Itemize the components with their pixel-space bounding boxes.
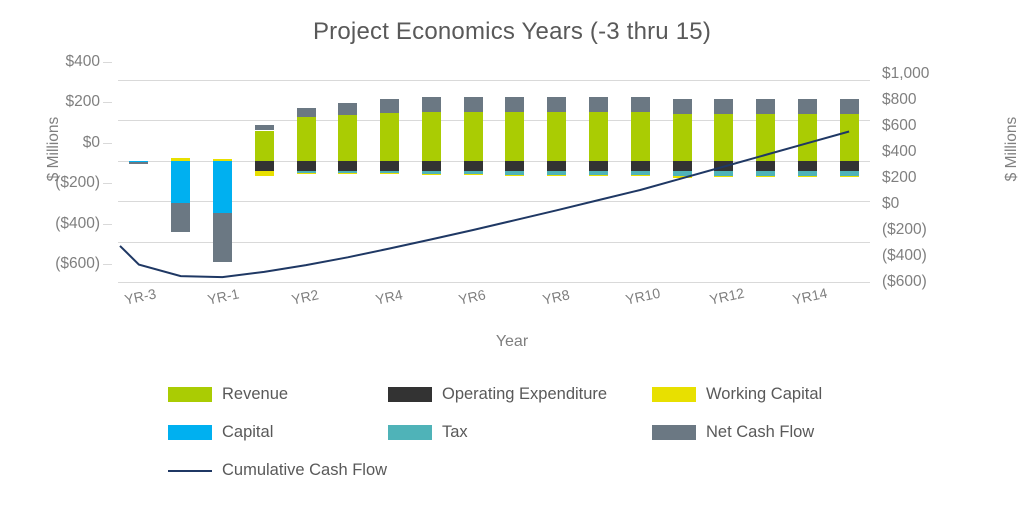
y-tick-mark-left [103, 224, 112, 225]
y-tick-label-right: ($600) [882, 273, 927, 291]
legend-row: RevenueOperating ExpenditureWorking Capi… [0, 385, 1024, 423]
x-tick-label: YR12 [708, 285, 746, 308]
y-axis-label-right: $ Millions [1003, 89, 1021, 209]
y-tick-label-left: ($400) [55, 215, 100, 233]
legend-swatch-icon [168, 387, 212, 402]
legend-label: Capital [222, 423, 273, 442]
x-axis-label: Year [0, 333, 1024, 351]
legend-item[interactable]: Tax [388, 423, 468, 442]
y-tick-mark-left [103, 264, 112, 265]
y-tick-label-right: ($200) [882, 221, 927, 239]
y-tick-label-left: $0 [83, 134, 100, 152]
line-path [120, 132, 849, 278]
x-tick-label: YR2 [290, 286, 320, 307]
x-tick-label: YR6 [457, 286, 487, 307]
x-tick-label: YR10 [624, 285, 662, 308]
legend-label: Net Cash Flow [706, 423, 814, 442]
legend-label: Revenue [222, 385, 288, 404]
legend-swatch-icon [652, 425, 696, 440]
legend-label: Operating Expenditure [442, 385, 607, 404]
x-tick-label: YR-3 [123, 285, 158, 307]
legend-swatch-icon [168, 425, 212, 440]
chart-legend: RevenueOperating ExpenditureWorking Capi… [0, 385, 1024, 499]
legend-label: Tax [442, 423, 468, 442]
x-axis-ticks: YR-3YR-1YR2YR4YR6YR8YR10YR12YR14 [118, 292, 870, 328]
y-tick-label-right: $800 [882, 91, 916, 109]
legend-line-icon [168, 470, 212, 472]
y-tick-mark-left [103, 143, 112, 144]
legend-label: Cumulative Cash Flow [222, 461, 387, 480]
y-tick-label-right: $600 [882, 117, 916, 135]
y-tick-label-right: $0 [882, 195, 899, 213]
legend-item[interactable]: Capital [168, 423, 273, 442]
chart-title: Project Economics Years (-3 thru 15) [0, 18, 1024, 46]
legend-item[interactable]: Revenue [168, 385, 288, 404]
y-tick-mark-left [103, 62, 112, 63]
y-tick-label-right: $200 [882, 169, 916, 187]
y-tick-label-right: ($400) [882, 247, 927, 265]
legend-row: CapitalTaxNet Cash Flow [0, 423, 1024, 461]
y-tick-label-left: ($600) [55, 255, 100, 273]
gridline [118, 282, 870, 283]
y-tick-label-right: $1,000 [882, 65, 929, 83]
legend-label: Working Capital [706, 385, 822, 404]
y-tick-label-left: $200 [66, 93, 100, 111]
cumulative-cash-flow-line [118, 80, 870, 282]
y-tick-mark-left [103, 183, 112, 184]
x-tick-label: YR4 [374, 286, 404, 307]
y-tick-mark-left [103, 102, 112, 103]
legend-row: Cumulative Cash Flow [0, 461, 1024, 499]
legend-swatch-icon [388, 387, 432, 402]
legend-item[interactable]: Operating Expenditure [388, 385, 607, 404]
x-tick-label: YR8 [541, 286, 571, 307]
legend-item[interactable]: Cumulative Cash Flow [168, 461, 387, 480]
legend-swatch-icon [652, 387, 696, 402]
y-tick-label-left: ($200) [55, 174, 100, 192]
legend-item[interactable]: Net Cash Flow [652, 423, 814, 442]
y-tick-label-left: $400 [66, 53, 100, 71]
chart-container: Project Economics Years (-3 thru 15) $ M… [0, 0, 1024, 507]
legend-swatch-icon [388, 425, 432, 440]
x-tick-label: YR14 [791, 285, 829, 308]
y-tick-label-right: $400 [882, 143, 916, 161]
legend-item[interactable]: Working Capital [652, 385, 822, 404]
x-tick-label: YR-1 [206, 285, 241, 307]
